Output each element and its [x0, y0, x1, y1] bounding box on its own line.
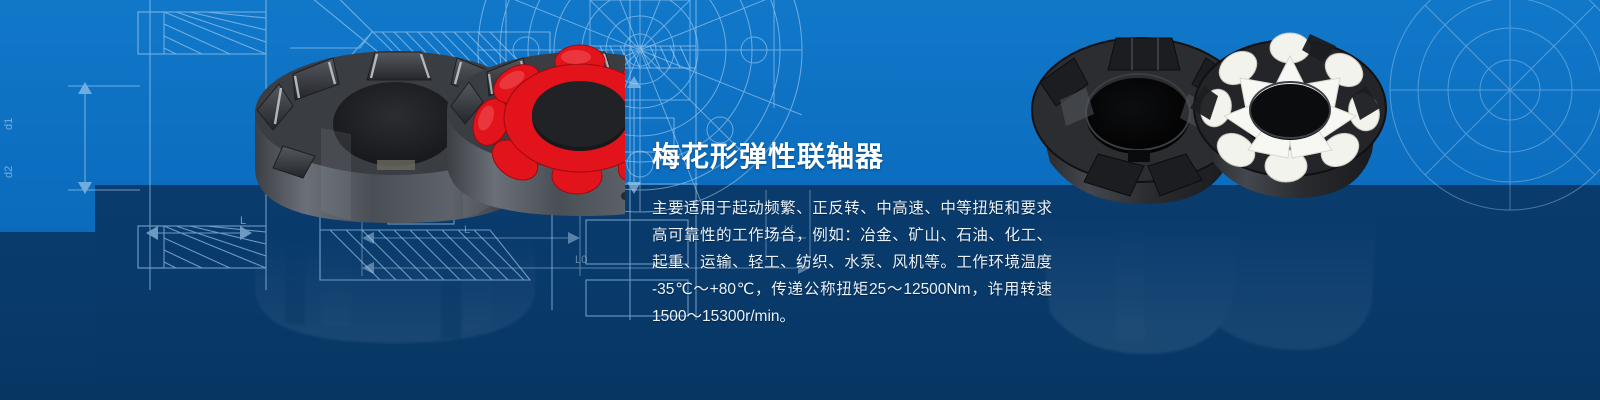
product-banner: d1 d2 D1 D L L L0 Lf — [0, 0, 1600, 400]
page-title: 梅花形弹性联轴器 — [652, 140, 884, 174]
background-dark-left-step — [0, 232, 96, 400]
description-text: 主要适用于起动频繁、正反转、中高速、中等扭矩和要求高可靠性的工作场合，例如：冶金… — [652, 195, 1052, 330]
product-description: 主要适用于起动频繁、正反转、中高速、中等扭矩和要求高可靠性的工作场合，例如：冶金… — [652, 195, 1052, 330]
